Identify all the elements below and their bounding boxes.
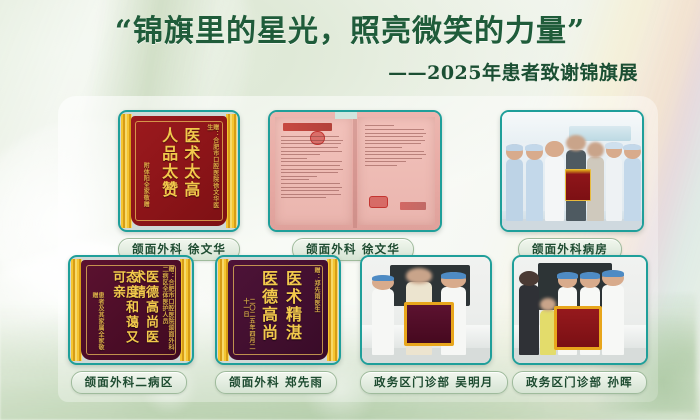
group-photo-clinic-2[interactable] <box>512 255 648 365</box>
staff-head <box>441 272 465 288</box>
letter-seal-bottom <box>369 196 388 208</box>
banner-photo-5[interactable]: 医术精湛 医德高尚 赠：郑先雨医生 二〇二五年四月二十一日 <box>215 255 341 365</box>
poster-stage: “锦旗里的星光，照亮微笑的力量” ——2025年患者致谢锦旗展 医术太高 人品太… <box>0 0 700 420</box>
gallery-item-6[interactable]: 政务区门诊部 吴明月 <box>360 255 488 394</box>
gallery-item-7[interactable]: 政务区门诊部 孙晖 <box>512 255 644 394</box>
banner-header-text: 赠：合肥市口腔医院徐文华医生 <box>206 124 218 213</box>
gallery-item-3[interactable]: 颌面外科病房 <box>500 110 640 261</box>
letter-page-right <box>358 117 435 226</box>
letter-red-stamp <box>400 202 426 210</box>
banner-photo-4[interactable]: 医德高尚医术精 态度和蔼又可亲 赠：合肥市口腔医院颌面外科二病区全体医护人员 患… <box>68 255 194 365</box>
doctor-1 <box>545 156 563 221</box>
banner-photo-1[interactable]: 医术太高 人品太赞 赠：合肥市口腔医院徐文华医生 附体阳全家敬赠 <box>118 110 240 232</box>
banner-donor-text: 二〇二五年四月二十一日 <box>242 298 254 352</box>
staff-3 <box>606 157 623 221</box>
family-member <box>519 285 539 355</box>
banner-fringe-right <box>327 259 338 361</box>
banner-main-text-left: 态度和蔼又可亲 <box>111 270 137 350</box>
staff-1 <box>372 289 394 355</box>
gallery-item-1[interactable]: 医术太高 人品太赞 赠：合肥市口腔医院徐文华医生 附体阳全家敬赠 颌面外科 徐文… <box>118 110 236 261</box>
staff-head <box>606 142 623 158</box>
banner-donor-text: 附体阳全家敬赠 <box>142 162 148 217</box>
document-photo[interactable] <box>268 110 442 232</box>
silk-banner-red: 医术太高 人品太赞 赠：合肥市口腔医院徐文华医生 附体阳全家敬赠 <box>120 112 238 230</box>
banner-cloth: 医术精湛 医德高尚 赠：郑先雨医生 二〇二五年四月二十一日 <box>228 260 328 360</box>
banner-main-text-right: 医术精湛 <box>284 270 300 350</box>
banner-donor-text: 患者及其家属全家敬赠 <box>91 292 103 352</box>
gallery-item-caption: 颌面外科 郑先雨 <box>215 371 337 394</box>
gallery-item-caption: 颌面外科二病区 <box>71 371 188 394</box>
banner-main-text-left: 人品太赞 <box>160 127 176 216</box>
page-subtitle: ——2025年患者致谢锦旗展 <box>0 58 700 85</box>
patient-head-blurred <box>566 135 586 151</box>
banner-cloth: 医德高尚医术精 态度和蔼又可亲 赠：合肥市口腔医院颌面外科二病区全体医护人员 患… <box>81 260 181 360</box>
letter-spine <box>353 114 356 227</box>
clinic-scene-1 <box>362 257 490 363</box>
banner-header-text: 赠：郑先雨医生 <box>313 267 319 347</box>
staff-3 <box>602 285 623 355</box>
doctor-head <box>545 141 563 157</box>
letter-body-left <box>281 136 345 216</box>
staff-head <box>602 270 623 286</box>
nurse-station-scene <box>502 112 642 230</box>
patient-head-blurred <box>406 268 433 284</box>
banner-fringe-right <box>226 114 237 227</box>
family-head <box>519 271 539 286</box>
staff-head <box>580 272 600 288</box>
staff-head <box>526 144 543 160</box>
staff-head <box>372 275 394 290</box>
staff-2 <box>526 159 543 220</box>
held-banner <box>554 306 602 350</box>
banner-cloth: 医术太高 人品太赞 赠：合肥市口腔医院徐文华医生 附体阳全家敬赠 <box>131 116 228 227</box>
group-photo-ward[interactable] <box>500 110 644 232</box>
held-banner <box>404 302 454 346</box>
banner-header-text: 赠：合肥市口腔医院颌面外科二病区全体医护人员 <box>161 266 173 352</box>
gallery-grid: 医术太高 人品太赞 赠：合肥市口腔医院徐文华医生 附体阳全家敬赠 颌面外科 徐文… <box>0 100 700 410</box>
banner-fringe-right <box>180 259 191 361</box>
poster-header: “锦旗里的星光，照亮微笑的力量” ——2025年患者致谢锦旗展 <box>0 14 700 85</box>
staff-head <box>506 144 523 160</box>
staff-4 <box>624 158 641 221</box>
staff-1 <box>506 159 523 220</box>
letter-page-tab <box>335 112 357 119</box>
gallery-item-4[interactable]: 医德高尚医术精 态度和蔼又可亲 赠：合肥市口腔医院颌面外科二病区全体医护人员 患… <box>68 255 190 394</box>
banner-main-text-left: 医德高尚 <box>260 270 276 350</box>
gallery-item-2[interactable]: 颌面外科 徐文华 <box>268 110 438 261</box>
patient-head-blurred <box>587 142 604 158</box>
letter-page-left <box>275 117 352 226</box>
page-title: “锦旗里的星光，照亮微笑的力量” <box>0 14 700 51</box>
gallery-item-caption: 政务区门诊部 吴明月 <box>360 371 508 394</box>
thank-you-letter <box>270 112 440 230</box>
letter-title-band <box>283 123 332 131</box>
silk-banner-purple: 医术精湛 医德高尚 赠：郑先雨医生 二〇二五年四月二十一日 <box>217 257 339 363</box>
staff-head <box>624 144 641 160</box>
clinic-scene-2 <box>514 257 646 363</box>
gallery-item-caption: 政务区门诊部 孙晖 <box>512 371 647 394</box>
floor <box>502 219 642 230</box>
gallery-item-5[interactable]: 医术精湛 医德高尚 赠：郑先雨医生 二〇二五年四月二十一日 颌面外科 郑先雨 <box>215 255 337 394</box>
held-banner <box>565 169 591 202</box>
banner-main-text-right: 医术太高 <box>182 127 198 216</box>
group-photo-clinic-1[interactable] <box>360 255 492 365</box>
silk-banner-maroon: 医德高尚医术精 态度和蔼又可亲 赠：合肥市口腔医院颌面外科二病区全体医护人员 患… <box>70 257 192 363</box>
